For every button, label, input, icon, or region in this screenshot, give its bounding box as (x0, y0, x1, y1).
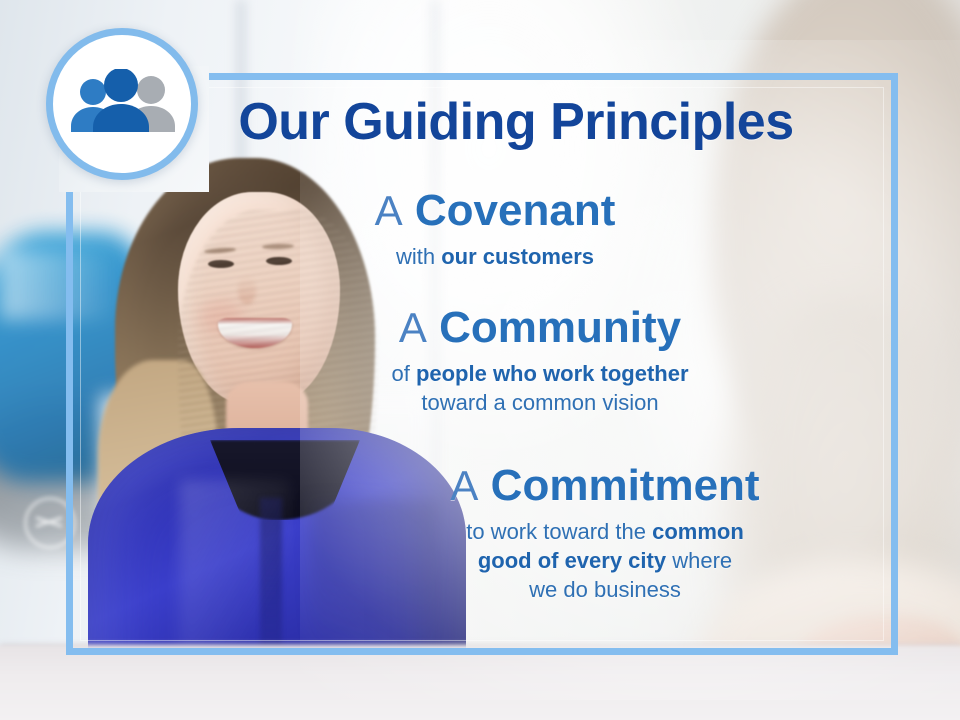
principle-subtext-line: to work toward the common (250, 517, 960, 546)
principle-subtext: to work toward the common good of every … (250, 517, 960, 604)
page-title: Our Guiding Principles (0, 96, 960, 148)
text-content: Our Guiding Principles A Covenant with o… (0, 0, 960, 720)
principle-article: A (375, 187, 403, 234)
subtext-run: of (391, 361, 415, 386)
principle-word: Commitment (491, 461, 760, 510)
subtext-run: toward a common vision (421, 390, 658, 415)
subtext-run-bold: good of every city (478, 548, 666, 573)
principle-article: A (450, 462, 478, 509)
principle-subtext-line: with our customers (30, 242, 960, 271)
subtext-run-bold: common (652, 519, 744, 544)
principle-heading: A Commitment (250, 463, 960, 509)
principle-community: A Community of people who work together … (0, 305, 960, 417)
principle-covenant: A Covenant with our customers (0, 188, 960, 271)
principle-heading: A Community (120, 305, 960, 351)
principle-subtext: of people who work together toward a com… (120, 359, 960, 417)
principle-heading: A Covenant (30, 188, 960, 234)
principle-subtext-line: of people who work together (120, 359, 960, 388)
guiding-principles-banner: FLOW Automotive FLOW Our Guiding Princip… (0, 0, 960, 720)
subtext-run: we do business (529, 577, 681, 602)
subtext-run: with (396, 244, 441, 269)
principle-subtext-line: good of every city where (250, 546, 960, 575)
subtext-run: where (666, 548, 732, 573)
principle-commitment: A Commitment to work toward the common g… (0, 463, 960, 604)
principle-word: Covenant (415, 186, 615, 235)
principle-word: Community (439, 303, 681, 352)
principle-subtext: with our customers (30, 242, 960, 271)
principle-article: A (399, 304, 427, 351)
principle-subtext-line: toward a common vision (120, 388, 960, 417)
subtext-run: to work toward the (466, 519, 652, 544)
principle-subtext-line: we do business (250, 575, 960, 604)
subtext-run-bold: our customers (441, 244, 594, 269)
page-title-text: Our Guiding Principles (166, 93, 793, 151)
subtext-run-bold: people who work together (416, 361, 689, 386)
